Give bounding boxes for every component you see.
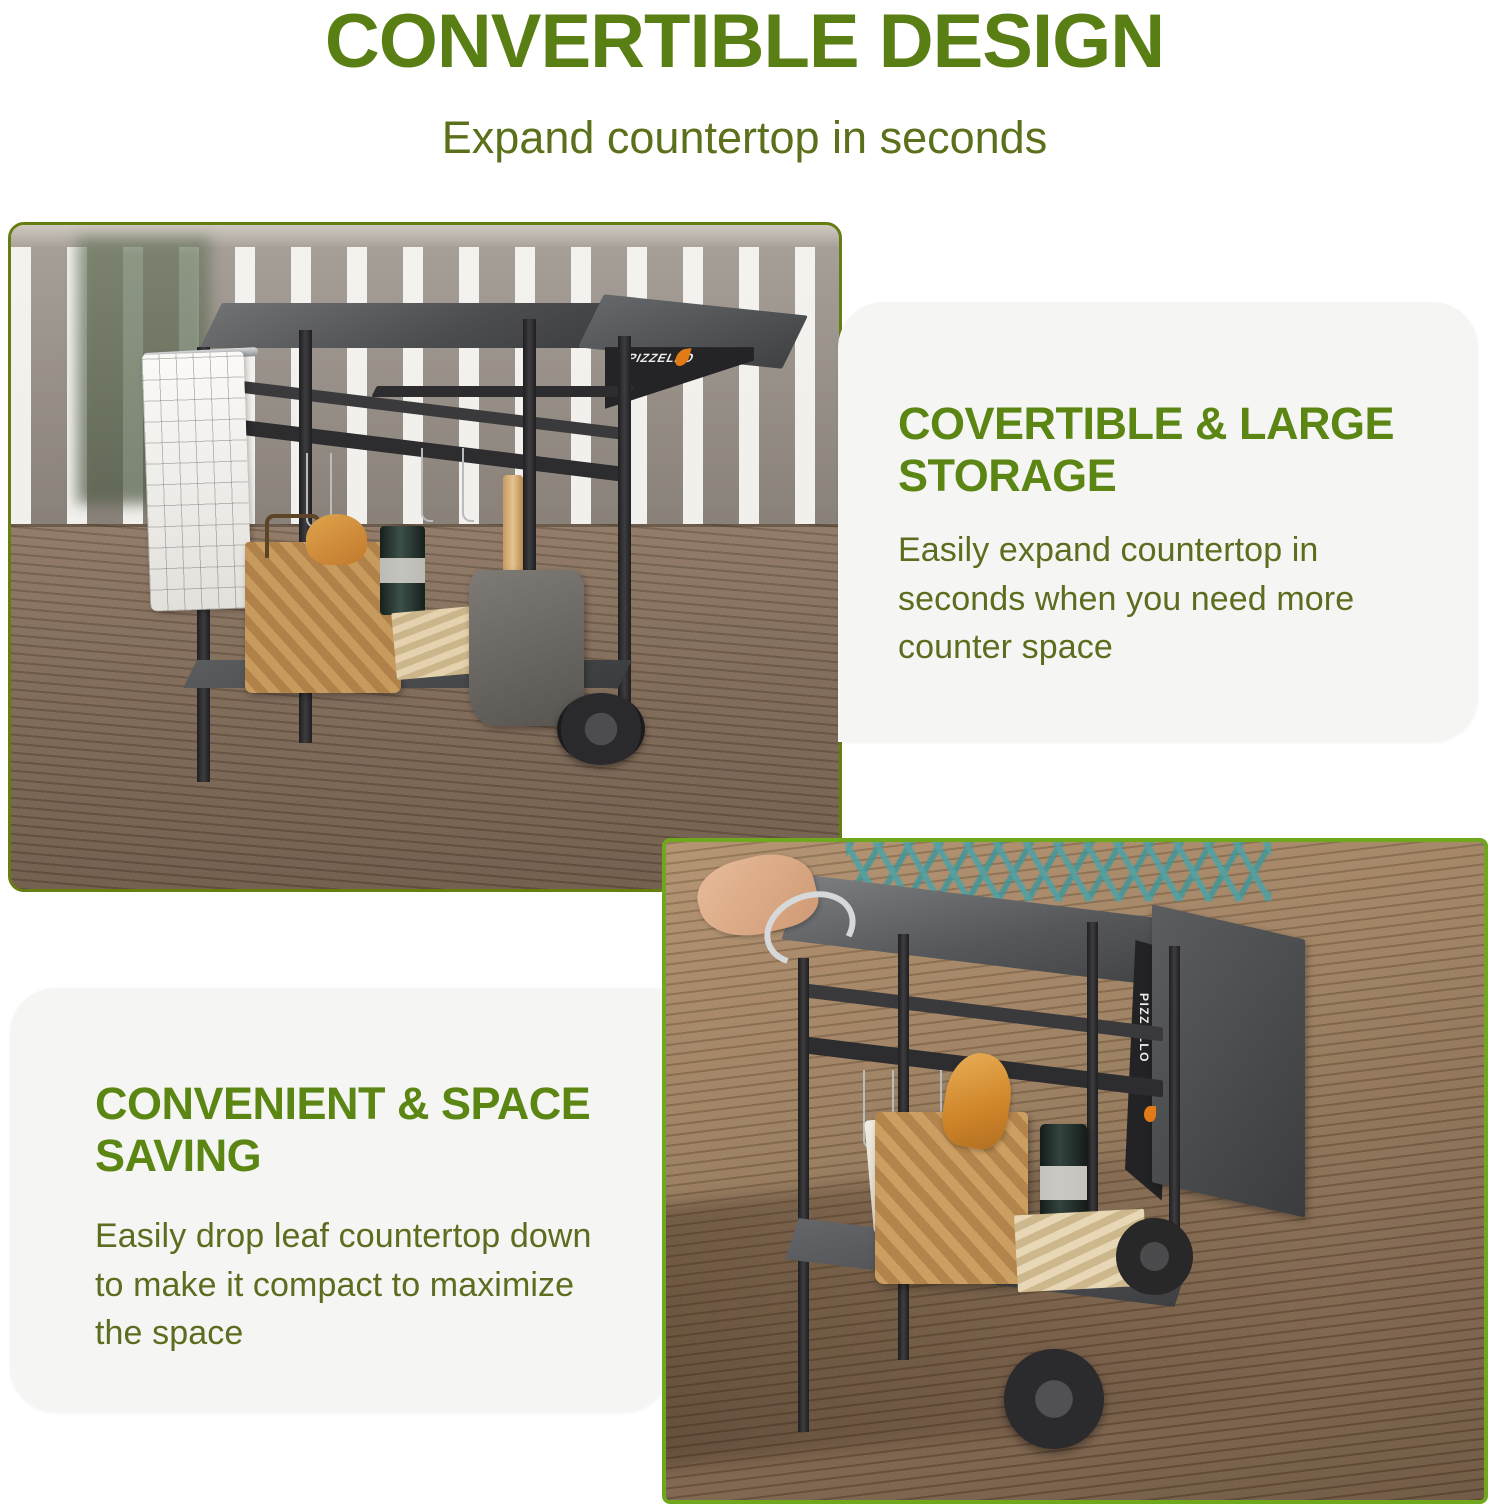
page-subtitle: Expand countertop in seconds xyxy=(0,113,1489,163)
product-photo-cart-folded: PIZZELLO xyxy=(662,838,1488,1504)
s-hook xyxy=(421,448,433,523)
cart-leg-front-left xyxy=(798,958,809,1432)
cart-wheel-rear xyxy=(1116,1218,1193,1295)
frame-rail-upper xyxy=(798,983,1163,1042)
peel-handle xyxy=(503,475,523,575)
feature-body: Easily expand countertop in seconds when… xyxy=(898,526,1428,672)
product-photo-cart-expanded: PIZZELLO xyxy=(8,222,842,892)
feature-heading: COVERTIBLE & LARGE STORAGE xyxy=(898,398,1458,502)
cart-wheel-front xyxy=(1004,1349,1104,1450)
infographic-canvas: CONVERTIBLE DESIGN Expand countertop in … xyxy=(0,0,1489,1500)
feature-heading: CONVENIENT & SPACE SAVING xyxy=(95,1078,655,1182)
page-title: CONVERTIBLE DESIGN xyxy=(0,2,1489,82)
s-hook xyxy=(462,448,474,523)
feature-body: Easily drop leaf countertop down to make… xyxy=(95,1212,595,1358)
countertop-main xyxy=(200,303,643,348)
hanging-towel xyxy=(142,351,253,611)
gas-canister xyxy=(380,526,424,615)
cart-wheel xyxy=(557,693,645,766)
cart-assembly: PIZZELLO xyxy=(102,291,781,849)
bread-loaf xyxy=(306,514,367,564)
cart-leg-front-right xyxy=(618,336,631,704)
feature-card-space-saving: CONVENIENT & SPACE SAVING Easily drop le… xyxy=(10,988,670,1412)
frame-rail-side xyxy=(371,386,634,397)
cart-assembly: PIZZELLO xyxy=(781,875,1370,1467)
woven-basket xyxy=(245,542,401,693)
feature-card-convertible-storage: COVERTIBLE & LARGE STORAGE Easily expand… xyxy=(838,302,1478,742)
pizza-peel xyxy=(469,570,584,726)
